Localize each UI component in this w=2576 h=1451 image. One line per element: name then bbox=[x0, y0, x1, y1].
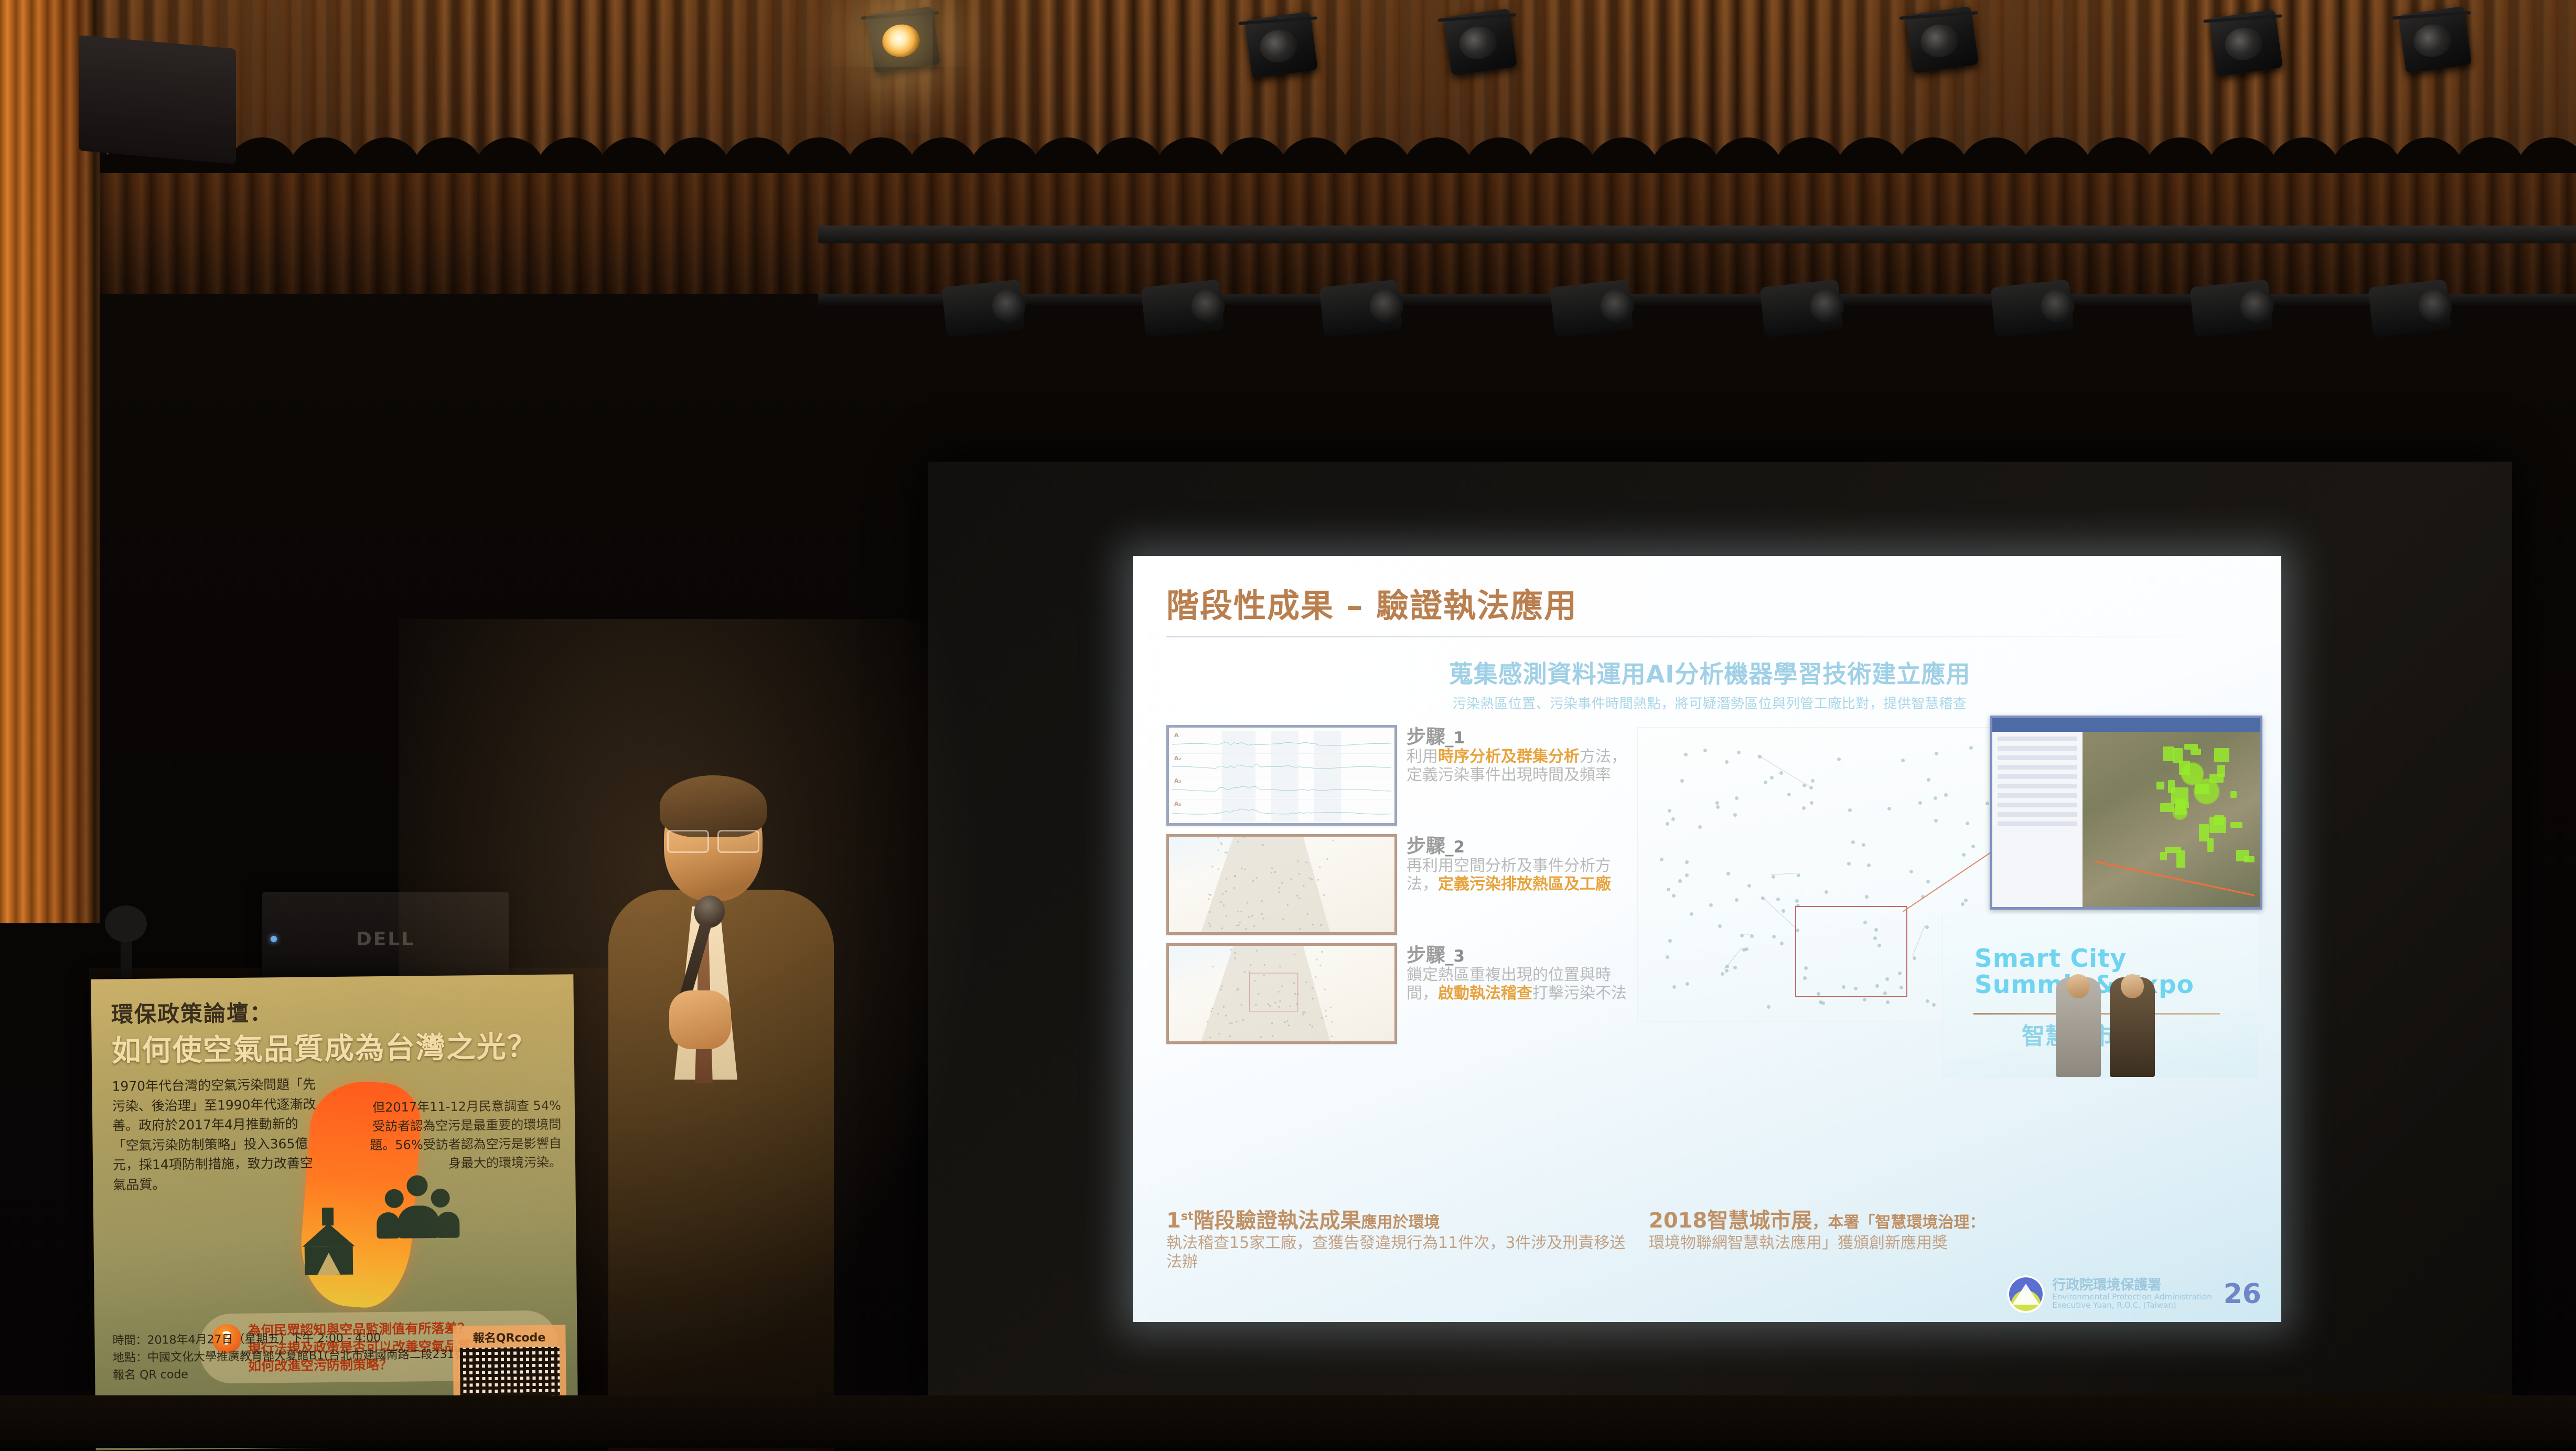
result-left-number: 1 bbox=[1166, 1209, 1181, 1233]
sensor-node bbox=[1867, 863, 1871, 867]
sensor-node bbox=[1925, 925, 1929, 929]
stage-light-barrel-icon bbox=[1990, 279, 2074, 337]
step-body-0: 利用時序分析及群集分析方法，定義污染事件出現時間及頻率 bbox=[1407, 748, 1628, 785]
series-line bbox=[1172, 754, 1391, 776]
sensor-node bbox=[1969, 746, 1973, 750]
sensor-node bbox=[1667, 888, 1670, 891]
sensor-node bbox=[1684, 753, 1688, 756]
sensor-node bbox=[1686, 982, 1689, 986]
detected-parcel bbox=[2168, 780, 2175, 793]
step-heading-label: 步驟 bbox=[1407, 944, 1445, 966]
step-row: AA₂A₃A₈ 步驟_1 利用時序分析及群集分析方法，定義污染事件出現時間及頻率 bbox=[1166, 725, 1628, 826]
stage-light-icon bbox=[1444, 8, 1517, 76]
poster-right-column: 但2017年11-12月民意調查 54%受訪者認為空污是最重要的環境問題。56%… bbox=[367, 1096, 562, 1173]
slide-page-number: 26 bbox=[2224, 1278, 2261, 1310]
presenter-hand bbox=[669, 990, 731, 1049]
sensor-node bbox=[1966, 821, 1969, 825]
sensor-node bbox=[1848, 808, 1852, 812]
step-thumbnail-hotspot-map bbox=[1166, 834, 1397, 935]
sensor-node bbox=[1780, 942, 1784, 945]
sensor-node bbox=[1824, 890, 1828, 894]
result-left-sup: st bbox=[1181, 1210, 1194, 1223]
sensor-node bbox=[1715, 801, 1719, 805]
sensor-node bbox=[1737, 751, 1741, 754]
sensor-node bbox=[1962, 853, 1966, 857]
sensor-node bbox=[1913, 956, 1916, 960]
step-body-1: 再利用空間分析及事件分析方法，定義污染排放熱區及工廠 bbox=[1407, 857, 1628, 894]
series-line bbox=[1172, 776, 1391, 799]
sensor-node bbox=[1735, 898, 1738, 902]
epa-name-en2: Executive Yuan, R.O.C. (Taiwan) bbox=[2052, 1301, 2212, 1310]
map-thumbnail bbox=[1169, 837, 1394, 932]
title-divider bbox=[1166, 636, 2253, 637]
step-row: 步驟_3 鎖定熱區重複出現的位置與時間，啟動執法稽查打擊污染不法 bbox=[1166, 943, 1628, 1044]
sensor-node bbox=[1810, 801, 1813, 805]
sensor-node bbox=[1764, 781, 1767, 784]
sensor-node bbox=[1685, 860, 1689, 864]
step-highlight-text: 啟動執法稽查 bbox=[1438, 984, 1532, 1002]
sensor-node bbox=[1918, 801, 1922, 805]
stage-light-barrel-icon bbox=[2368, 279, 2451, 337]
stage-light-barrel-icon bbox=[941, 279, 1025, 337]
presentation-slide: 階段性成果 – 驗證執法應用 蒐集感測資料運用AI分析機器學習技術建立應用 污染… bbox=[1133, 556, 2281, 1322]
panel-title-bar bbox=[1992, 718, 2260, 732]
sensor-node bbox=[1865, 895, 1869, 899]
expo-title-line1: Smart City bbox=[1974, 946, 2194, 972]
sensor-node bbox=[1671, 817, 1675, 821]
satellite-imagery bbox=[2083, 732, 2260, 907]
timeseries-panel: A bbox=[1172, 731, 1391, 754]
step-row: 步驟_2 再利用空間分析及事件分析方法，定義污染排放熱區及工廠 bbox=[1166, 834, 1628, 935]
result-right-tail: ，本署「智慧環境治理： bbox=[1812, 1213, 1985, 1232]
epa-logo-icon bbox=[2007, 1275, 2045, 1313]
step-heading-number: _1 bbox=[1445, 729, 1465, 748]
microphone-head-icon bbox=[105, 905, 147, 942]
sensor-node bbox=[1660, 858, 1663, 861]
sensor-node bbox=[1678, 879, 1682, 883]
sensor-node bbox=[1733, 813, 1737, 817]
step-plain-text: 利用 bbox=[1407, 748, 1438, 766]
satellite-analysis-panel bbox=[1990, 716, 2262, 910]
sensor-node bbox=[1735, 796, 1738, 800]
stage-light-barrel-icon bbox=[1759, 279, 1843, 337]
sensor-node bbox=[1934, 819, 1938, 823]
step-heading-number: _3 bbox=[1445, 947, 1465, 966]
result-right: 2018智慧城市展，本署「智慧環境治理： 環境物聯網智慧執法應用」獲頒創新應用獎 bbox=[1649, 1209, 2251, 1272]
stage-light-icon bbox=[2209, 9, 2283, 77]
timeseries-panel: A₈ bbox=[1172, 799, 1391, 823]
sensor-node bbox=[1847, 862, 1851, 866]
sensor-node bbox=[1809, 786, 1813, 789]
sensor-node bbox=[1779, 771, 1783, 775]
sensor-node bbox=[1901, 759, 1905, 762]
detected-parcel bbox=[2209, 817, 2226, 833]
sensor-link bbox=[1912, 925, 1925, 956]
sensor-node bbox=[1725, 760, 1729, 764]
stage-light-barrel-icon bbox=[1319, 279, 1402, 337]
step-thumbnail-enforcement-map bbox=[1166, 943, 1397, 1044]
sensor-node bbox=[1772, 875, 1775, 879]
sensor-node bbox=[1927, 778, 1930, 782]
sensor-node bbox=[1709, 903, 1713, 907]
projection-screen: 階段性成果 – 驗證執法應用 蒐集感測資料運用AI分析機器學習技術建立應用 污染… bbox=[928, 462, 2512, 1406]
step-text: 步驟_1 利用時序分析及群集分析方法，定義污染事件出現時間及頻率 bbox=[1407, 725, 1628, 826]
poster-title: 如何使空氣品質成為台灣之光？ bbox=[111, 1023, 538, 1070]
step-heading: 步驟_1 bbox=[1407, 727, 1628, 748]
sensor-node bbox=[1672, 894, 1676, 898]
sensor-node bbox=[1863, 998, 1866, 1001]
result-right-headline: 2018智慧城市展，本署「智慧環境治理： bbox=[1649, 1209, 2251, 1233]
stage-light-barrel-icon bbox=[1141, 279, 1224, 337]
expo-award-photo: Smart City Summit & Expo 智慧城市展 bbox=[1942, 914, 2258, 1077]
detected-parcel bbox=[2173, 748, 2183, 763]
sensor-node bbox=[1733, 966, 1737, 969]
steps-column: AA₂A₃A₈ 步驟_1 利用時序分析及群集分析方法，定義污染事件出現時間及頻率 bbox=[1166, 725, 1628, 1052]
series-line bbox=[1172, 731, 1391, 753]
result-left-body: 執法稽查15家工廠，查獲告發違規行為11件次，3件涉及刑責移送法辦 bbox=[1166, 1234, 1628, 1272]
detected-parcel bbox=[2176, 850, 2185, 868]
avatar bbox=[2121, 974, 2144, 998]
sensor-node bbox=[1926, 999, 1929, 1003]
sensor-node bbox=[1685, 873, 1689, 877]
sensor-node bbox=[1666, 955, 1669, 959]
presenter-hair bbox=[660, 775, 767, 837]
sensor-node bbox=[1961, 902, 1965, 906]
sensor-node bbox=[1740, 934, 1744, 937]
step-heading-label: 步驟 bbox=[1407, 835, 1445, 857]
result-right-body: 環境物聯網智慧執法應用」獲頒創新應用獎 bbox=[1649, 1234, 2251, 1253]
sensor-node bbox=[1772, 935, 1776, 938]
eyeglasses-icon bbox=[667, 830, 759, 850]
sensor-node bbox=[1851, 840, 1855, 844]
sensor-node bbox=[1971, 845, 1975, 848]
factory-icon bbox=[293, 1207, 388, 1287]
auditorium-stage: 階段性成果 – 驗證執法應用 蒐集感測資料運用AI分析機器學習技術建立應用 污染… bbox=[0, 0, 2576, 1448]
award-recipient-left bbox=[2056, 977, 2101, 1077]
sensor-node bbox=[1781, 909, 1785, 913]
detected-parcel bbox=[2209, 774, 2224, 783]
stage-light-barrel-icon bbox=[2189, 279, 2273, 337]
detected-parcel bbox=[2160, 852, 2167, 860]
sensor-node bbox=[1926, 880, 1930, 883]
sensor-node bbox=[1795, 899, 1799, 903]
presenter bbox=[572, 782, 844, 1448]
sensor-node bbox=[1690, 912, 1693, 916]
sensor-node bbox=[1770, 776, 1774, 780]
step-heading-label: 步驟 bbox=[1407, 726, 1445, 748]
detected-parcel bbox=[2184, 744, 2197, 750]
slide-subtitle-main: 蒐集感測資料運用AI分析機器學習技術建立應用 bbox=[1166, 655, 2253, 690]
award-recipient-right bbox=[2110, 977, 2155, 1077]
step-heading: 步驟_2 bbox=[1407, 836, 1628, 857]
sensor-node bbox=[1909, 870, 1913, 873]
slide-footer: 行政院環境保護署 Environmental Protection Admini… bbox=[1133, 1272, 2281, 1317]
event-poster: 環保政策論壇： 如何使空氣品質成為台灣之光？ 1970年代台灣的空氣污染問題「先… bbox=[91, 974, 578, 1450]
detected-parcel bbox=[2236, 850, 2249, 861]
step-heading: 步驟_3 bbox=[1407, 945, 1628, 966]
detected-parcel bbox=[2195, 784, 2209, 794]
epa-name-cn: 行政院環境保護署 bbox=[2052, 1278, 2212, 1293]
step-body-2: 鎖定熱區重複出現的位置與時間，啟動執法稽查打擊污染不法 bbox=[1407, 966, 1628, 1003]
stage-light-icon bbox=[1905, 6, 1979, 73]
map-thumbnail bbox=[1169, 946, 1394, 1041]
result-left-title: 階段驗證執法成果 bbox=[1193, 1209, 1361, 1233]
step-highlight-text: 時序分析及群集分析 bbox=[1438, 748, 1580, 766]
sensor-node bbox=[1747, 884, 1751, 888]
detected-parcel bbox=[2160, 803, 2174, 812]
qr-label: 報名QRcode bbox=[457, 1328, 561, 1346]
detected-parcel bbox=[2230, 822, 2242, 828]
series-line bbox=[1172, 799, 1391, 822]
people-group-icon bbox=[376, 1175, 460, 1244]
stage-light-icon bbox=[2398, 6, 2472, 73]
step-highlight-text: 定義污染排放熱區及工廠 bbox=[1438, 875, 1611, 893]
sensor-node bbox=[1716, 805, 1720, 809]
stage-light-barrel-icon bbox=[1550, 279, 1633, 337]
sensor-node bbox=[1668, 939, 1672, 943]
result-left-headline: 1st階段驗證執法成果應用於環境 bbox=[1166, 1209, 1628, 1233]
sensor-node bbox=[1887, 807, 1891, 810]
step-heading-number: _2 bbox=[1445, 838, 1465, 857]
sensor-node bbox=[1934, 796, 1937, 800]
sensor-node bbox=[1964, 899, 1968, 902]
result-right-title: 2018智慧城市展 bbox=[1649, 1209, 1812, 1233]
result-left-tail: 應用於環境 bbox=[1361, 1213, 1440, 1232]
epa-wordmark: 行政院環境保護署 Environmental Protection Admini… bbox=[2052, 1278, 2212, 1309]
sensor-node bbox=[1698, 825, 1702, 829]
sensor-node bbox=[1666, 822, 1669, 826]
detected-parcel bbox=[2199, 824, 2209, 841]
mountain-icon bbox=[2012, 1284, 2040, 1305]
step-thumbnail-timeseries: AA₂A₃A₈ bbox=[1166, 725, 1397, 826]
sensor-node bbox=[1787, 793, 1791, 796]
ceiling-speaker bbox=[79, 35, 236, 164]
sensor-node bbox=[1672, 985, 1676, 989]
sensor-node bbox=[1935, 752, 1938, 755]
power-led-icon bbox=[271, 936, 277, 942]
sensor-node bbox=[1862, 843, 1865, 847]
step-text: 步驟_3 鎖定熱區重複出現的位置與時間，啟動執法稽查打擊污染不法 bbox=[1407, 943, 1628, 1044]
lighting-truss-upper bbox=[818, 226, 2576, 243]
panel-layer-list bbox=[1992, 732, 2083, 907]
sensor-node bbox=[1821, 1001, 1825, 1005]
poster-left-column: 1970年代台灣的空氣污染問題「先污染、後治理」至1990年代逐漸改善。政府於2… bbox=[112, 1074, 317, 1194]
sensor-link bbox=[1772, 873, 1797, 875]
sensor-node bbox=[1776, 898, 1780, 901]
sensor-node bbox=[1718, 924, 1722, 928]
stage-light-icon bbox=[1244, 12, 1318, 79]
sensor-node bbox=[1837, 757, 1841, 761]
hotspot-selection-box bbox=[1795, 906, 1907, 997]
detected-parcel bbox=[2214, 748, 2229, 762]
timeseries-panel: A₂ bbox=[1172, 754, 1391, 777]
sensor-node bbox=[1703, 749, 1707, 752]
sensor-node bbox=[1932, 1003, 1936, 1007]
avatar bbox=[2067, 974, 2090, 998]
step-plain-text: 打擊污染不法 bbox=[1532, 984, 1627, 1002]
sensor-node bbox=[1797, 873, 1800, 877]
sensor-node bbox=[1745, 947, 1748, 951]
slide-subtitle-sub: 污染熱區位置、污染事件時間熱點，將可疑潛勢區位與列管工廠比對，提供智慧稽查 bbox=[1166, 693, 2253, 712]
sensor-node bbox=[1668, 809, 1671, 813]
poster-eyebrow: 環保政策論壇： bbox=[111, 995, 273, 1029]
lighting-truss-lower bbox=[818, 294, 2576, 305]
slide-title: 階段性成果 – 驗證執法應用 bbox=[1166, 579, 2253, 626]
sensor-node bbox=[1721, 972, 1724, 976]
detected-parcel bbox=[2230, 791, 2237, 798]
detected-parcel bbox=[2156, 782, 2164, 789]
monitor-brand-label: DELL bbox=[356, 929, 415, 950]
sensor-node bbox=[1726, 872, 1730, 876]
sensor-node bbox=[1985, 802, 1989, 805]
poster-event-info: 時間：2018年4月27日（星期五）下午 2:00 - 4:00 地點：中國文化… bbox=[112, 1328, 470, 1384]
sensor-node bbox=[1944, 793, 1948, 797]
stage-floor bbox=[0, 1395, 2576, 1448]
sensor-node bbox=[1725, 969, 1729, 973]
sensor-node bbox=[1811, 779, 1815, 783]
step-text: 步驟_2 再利用空間分析及事件分析方法，定義污染排放熱區及工廠 bbox=[1407, 834, 1628, 935]
timeseries-panel: A₃ bbox=[1172, 776, 1391, 799]
sensor-node bbox=[1767, 1005, 1770, 1009]
stage-light-icon bbox=[867, 6, 940, 73]
sensor-node bbox=[1750, 934, 1754, 938]
right-column: Smart City Summit & Expo 智慧城市展 bbox=[1637, 725, 2253, 1052]
slide-results: 1st階段驗證執法成果應用於環境 執法稽查15家工廠，查獲告發違規行為11件次，… bbox=[1133, 1209, 2281, 1272]
sensor-node bbox=[1680, 779, 1684, 783]
sensor-node bbox=[1802, 806, 1806, 810]
sensor-node bbox=[1886, 1000, 1890, 1004]
result-left: 1st階段驗證執法成果應用於環境 執法稽查15家工廠，查獲告發違規行為11件次，… bbox=[1166, 1209, 1628, 1272]
